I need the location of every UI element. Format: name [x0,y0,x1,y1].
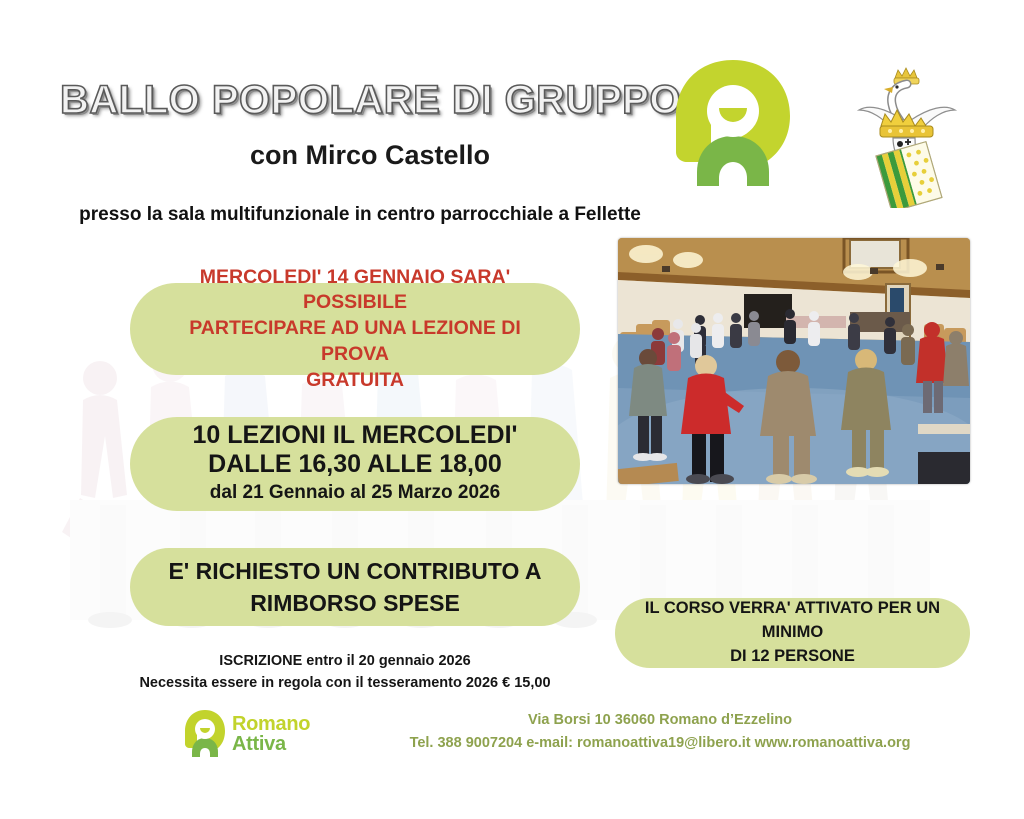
bubble-trial-line-3: GRATUITA [306,368,404,394]
schedule-line-2: DALLE 16,30 ALLE 18,00 [208,450,502,479]
registration-deadline: ISCRIZIONE entro il 20 gennaio 2026 [120,651,570,673]
schedule-date-range: dal 21 Gennaio al 25 Marzo 2026 [210,479,500,508]
contribution-line-1: E' RICHIESTO UN CONTRIBUTO A [168,555,541,587]
bubble-trial-line-1: MERCOLEDI' 14 GENNAIO SARA' POSSIBILE [160,265,550,316]
page-title: BALLO POPOLARE DI GRUPPO [60,78,680,123]
footer-contacts: Tel. 388 9007204 e-mail: romanoattiva19@… [370,732,950,755]
brand-wordmark: Romano Attiva [232,714,310,754]
bubble-trial-line-2: PARTECIPARE AD UNA LEZIONE DI PROVA [160,316,550,367]
minimum-line-1: IL CORSO VERRA' ATTIVATO PER UN MINIMO [635,597,950,645]
footer-address: Via Borsi 10 36060 Romano d’Ezzelino [370,709,950,732]
instructor-subtitle: con Mirco Castello [60,140,680,171]
registration-notes: ISCRIZIONE entro il 20 gennaio 2026 Nece… [120,651,570,695]
minimum-line-2: DI 12 PERSONE [730,645,855,669]
dance-class-photo [618,238,970,484]
membership-requirement: Necessita essere in regola con il tesser… [120,673,570,695]
venue-line: presso la sala multifunzionale in centro… [40,204,680,226]
bubble-contribution: E' RICHIESTO UN CONTRIBUTO A RIMBORSO SP… [130,548,580,626]
bubble-schedule: 10 LEZIONI IL MERCOLEDI' DALLE 16,30 ALL… [130,417,580,511]
romano-attiva-mark-icon [183,709,227,759]
contribution-line-2: RIMBORSO SPESE [250,587,460,619]
footer-contact-block: Via Borsi 10 36060 Romano d’Ezzelino Tel… [370,709,950,756]
brand-word-attiva: Attiva [232,734,310,754]
schedule-line-1: 10 LEZIONI IL MERCOLEDI' [193,421,518,450]
footer-brand-logo: Romano Attiva [183,706,311,762]
romano-attiva-r-logo-icon [672,58,794,190]
bubble-minimum-participants: IL CORSO VERRA' ATTIVATO PER UN MINIMO D… [615,598,970,668]
bubble-trial-lesson: MERCOLEDI' 14 GENNAIO SARA' POSSIBILE PA… [130,283,580,375]
poster-canvas: BALLO POPOLARE DI GRUPPO con Mirco Caste… [0,0,1024,819]
coat-of-arms-icon [845,60,969,208]
brand-word-romano: Romano [232,714,310,734]
